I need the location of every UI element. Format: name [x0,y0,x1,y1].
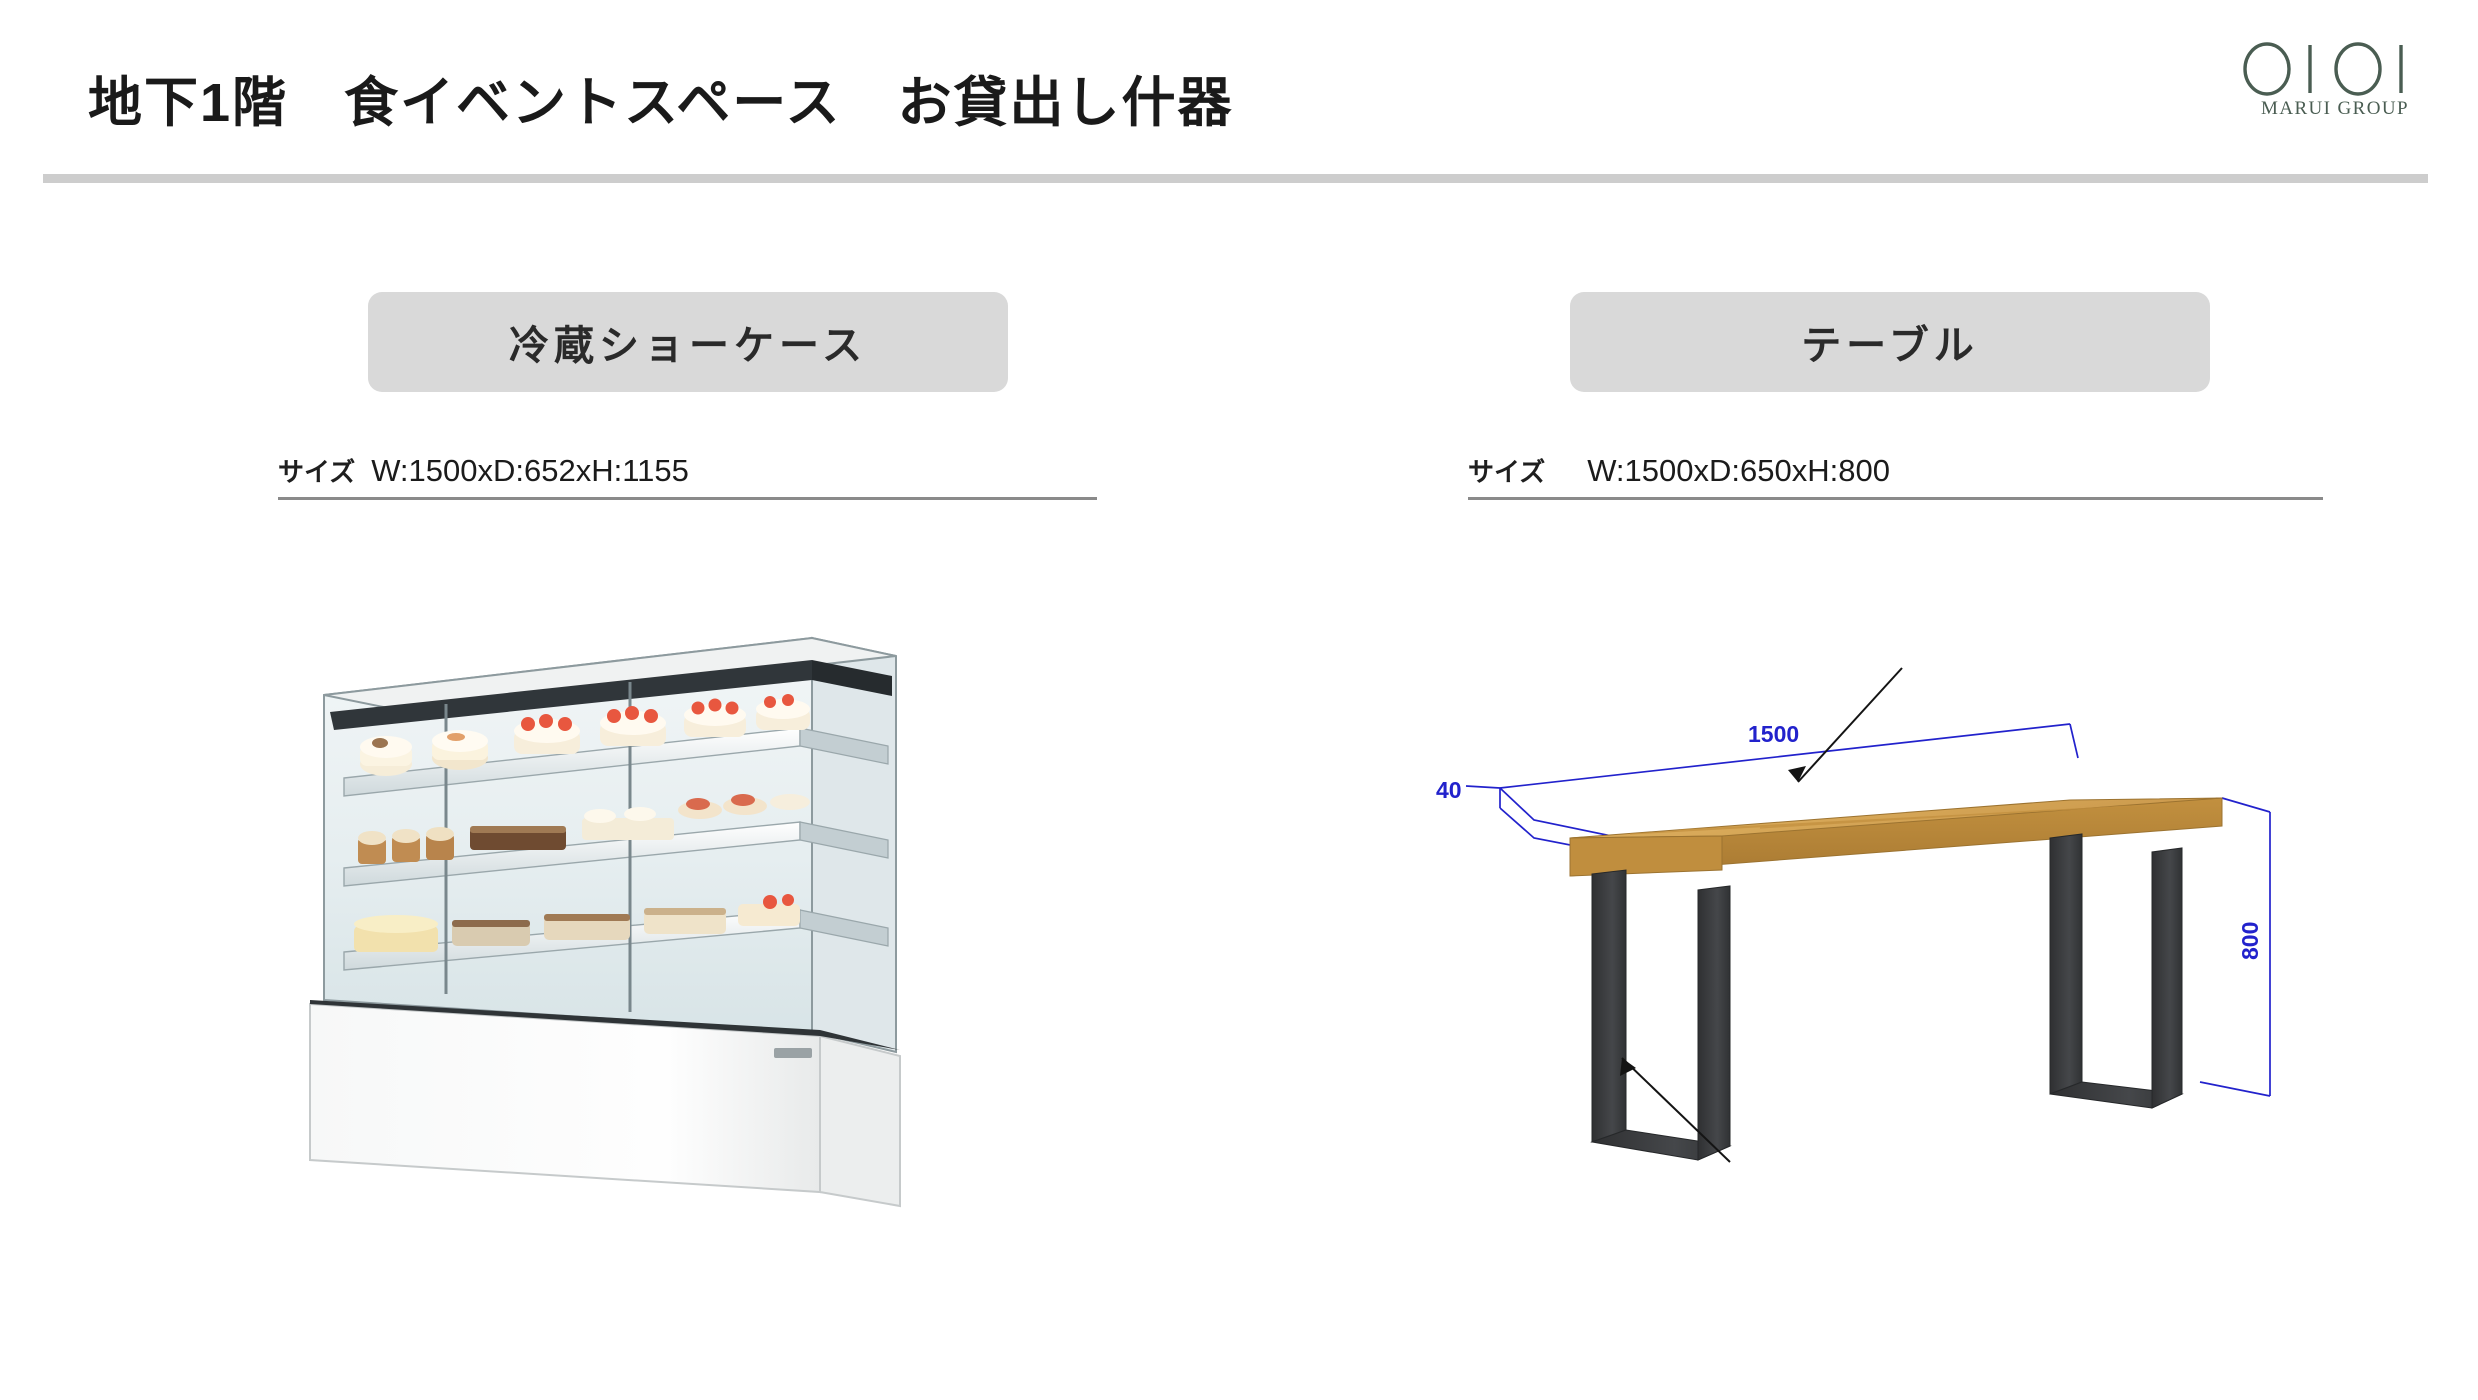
dimension-label-width: 1500 [1748,721,1799,747]
showcase-illustration-icon [300,600,1060,1220]
size-row-table: サイズ W:1500xD:650xH:800 [1468,452,2323,500]
size-value-label: W:1500xD:650xH:800 [1587,453,1890,489]
section-chip-label: 冷蔵ショーケース [509,313,867,371]
table-illustration-icon: 1500 40 800 [1430,630,2350,1170]
size-key-label: サイズ [1468,452,1545,489]
size-row-showcase: サイズ W:1500xD:652xH:1155 [278,452,1097,500]
refrigerated-showcase-photo [300,600,1060,1220]
section-chip-showcase: 冷蔵ショーケース [368,292,1008,392]
section-chip-label: テーブル [1801,313,1979,371]
size-value-label: W:1500xD:652xH:1155 [371,453,689,489]
table-dimension-drawing: 1500 40 800 [1430,630,2350,1170]
slide-canvas: 地下1階 食イベントスペース お貸出し什器 MARUI GROUP 冷蔵ショーケ… [0,0,2478,1400]
section-chip-table: テーブル [1570,292,2210,392]
dimension-label-height: 800 [2237,922,2263,960]
size-key-label: サイズ [278,452,355,489]
item-panel-table: テーブル サイズ W:1500xD:650xH:800 [1240,0,2478,1400]
item-panel-showcase: 冷蔵ショーケース サイズ W:1500xD:652xH:1155 [0,0,1240,1400]
dimension-label-thickness: 40 [1436,777,1462,803]
